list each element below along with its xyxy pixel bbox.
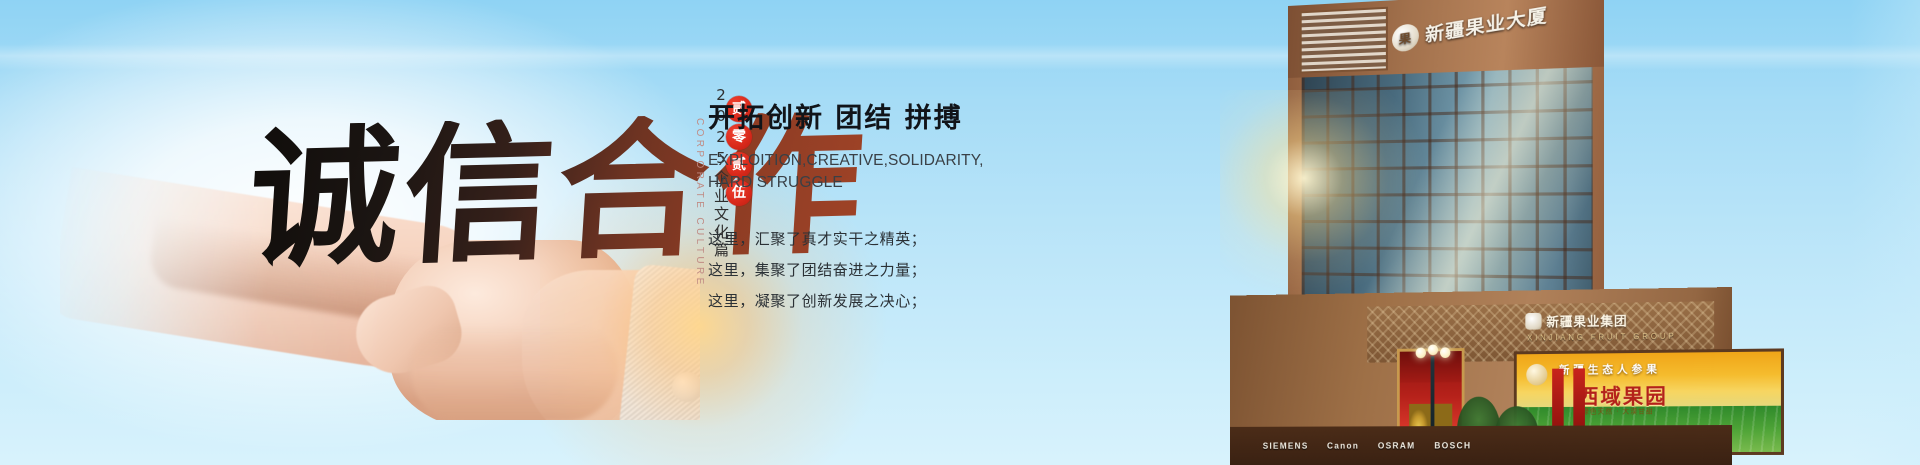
office-building-photo: 果 新疆果业大厦 新疆果业集团 XINJIANG FRUIT GROUP 新疆生… xyxy=(1020,0,1920,465)
corporate-culture-banner: 诚信合作 2025企业文化篇 CORPORATE CULTURE 贰 零 贰 伍… xyxy=(0,0,1920,465)
street-tree xyxy=(1495,406,1539,465)
billboard-sky xyxy=(1517,351,1781,407)
street-lamp-post xyxy=(1431,356,1435,465)
tower-sun-glare xyxy=(1220,90,1430,300)
tower-crown: 果 新疆果业大厦 xyxy=(1288,0,1604,78)
led-billboard: 新疆生态人参果 西域果园 绿色天然 · 大漠甘甜 xyxy=(1514,348,1784,455)
handshake-photo xyxy=(60,120,700,420)
shop-sign: OSRAM xyxy=(1378,441,1416,451)
slogan-item: 这里，集聚了团结奋进之力量； xyxy=(708,255,1038,286)
forearm-shadow xyxy=(147,215,484,336)
group-sign-text: 新疆果业集团 xyxy=(1546,311,1627,331)
billboard-headline: 新疆生态人参果 xyxy=(1559,361,1661,378)
poster-product-cans xyxy=(1409,404,1452,443)
street-banner-flag xyxy=(1573,368,1585,431)
street-tree xyxy=(1457,397,1501,465)
tower-window-sheen xyxy=(1302,52,1593,388)
slogan-item: 这里，凝聚了创新发展之决心； xyxy=(708,286,1038,317)
right-edge-sky-fade xyxy=(1850,0,1920,465)
storefront-strip: SIEMENS Canon OSRAM BOSCH xyxy=(1230,425,1732,465)
english-subheadline: EXPLOITION,CREATIVE,SOLIDARITY, HARD STR… xyxy=(708,150,913,194)
sky-haze-band xyxy=(0,44,1920,70)
tower-window-grid xyxy=(1302,52,1593,388)
billboard-logo-icon xyxy=(1526,364,1547,386)
tower-base xyxy=(1288,372,1604,445)
knuckles-shadow xyxy=(412,326,618,422)
street-lamp-head xyxy=(1416,344,1450,360)
billboard-subtitle: 绿色天然 · 大漠甘甜 xyxy=(1582,406,1654,416)
billboard-field-rows xyxy=(1517,406,1781,453)
tower-logo-icon: 果 xyxy=(1392,22,1419,53)
tower-sign: 果 新疆果业大厦 xyxy=(1392,0,1597,64)
left-hand-shape xyxy=(390,240,640,430)
forearm-shape xyxy=(48,167,496,382)
vertical-poster xyxy=(1397,348,1465,459)
podium-mesh-facade xyxy=(1367,301,1714,362)
thumb-shape xyxy=(347,279,468,383)
shop-sign: BOSCH xyxy=(1434,441,1471,451)
cuff-button xyxy=(672,372,702,402)
lamp-bulb-icon xyxy=(1440,347,1450,358)
lamp-bulb-icon xyxy=(1416,348,1426,359)
crown-louver-panel xyxy=(1300,7,1388,74)
shop-sign: Canon xyxy=(1327,441,1359,451)
slogan-item: 这里，汇聚了真才实干之精英； xyxy=(708,224,1038,255)
billboard-title: 西域果园 xyxy=(1578,381,1668,411)
podium-block: 新疆果业集团 XINJIANG FRUIT GROUP 新疆生态人参果 西域果园… xyxy=(1230,287,1732,465)
group-sign: 新疆果业集团 xyxy=(1525,311,1627,331)
tower-body: 果 新疆果业大厦 xyxy=(1288,0,1604,445)
group-sign-subtext: XINJIANG FRUIT GROUP xyxy=(1527,332,1676,343)
shop-sign: SIEMENS xyxy=(1263,441,1309,451)
slogan-list: 这里，汇聚了真才实干之精英； 这里，集聚了团结奋进之力量； 这里，凝聚了创新发展… xyxy=(708,224,1038,317)
group-logo-icon xyxy=(1525,313,1541,330)
english-subheadline-line-2: HARD STRUGGLE xyxy=(708,172,913,194)
poster-header-band xyxy=(1400,351,1462,383)
handshake-fade-mask xyxy=(60,120,700,420)
vertical-english-caption: CORPORATE CULTURE xyxy=(694,118,705,288)
slogan-headline: 开拓创新 团结 拼搏 xyxy=(708,104,1038,134)
tower-sign-text: 新疆果业大厦 xyxy=(1425,0,1548,48)
copy-column: 开拓创新 团结 拼搏 EXPLOITION,CREATIVE,SOLIDARIT… xyxy=(708,104,1038,333)
english-subheadline-line-1: EXPLOITION,CREATIVE,SOLIDARITY, xyxy=(708,150,913,172)
lamp-bulb-icon xyxy=(1428,344,1438,355)
street-banner-flag xyxy=(1552,369,1564,432)
